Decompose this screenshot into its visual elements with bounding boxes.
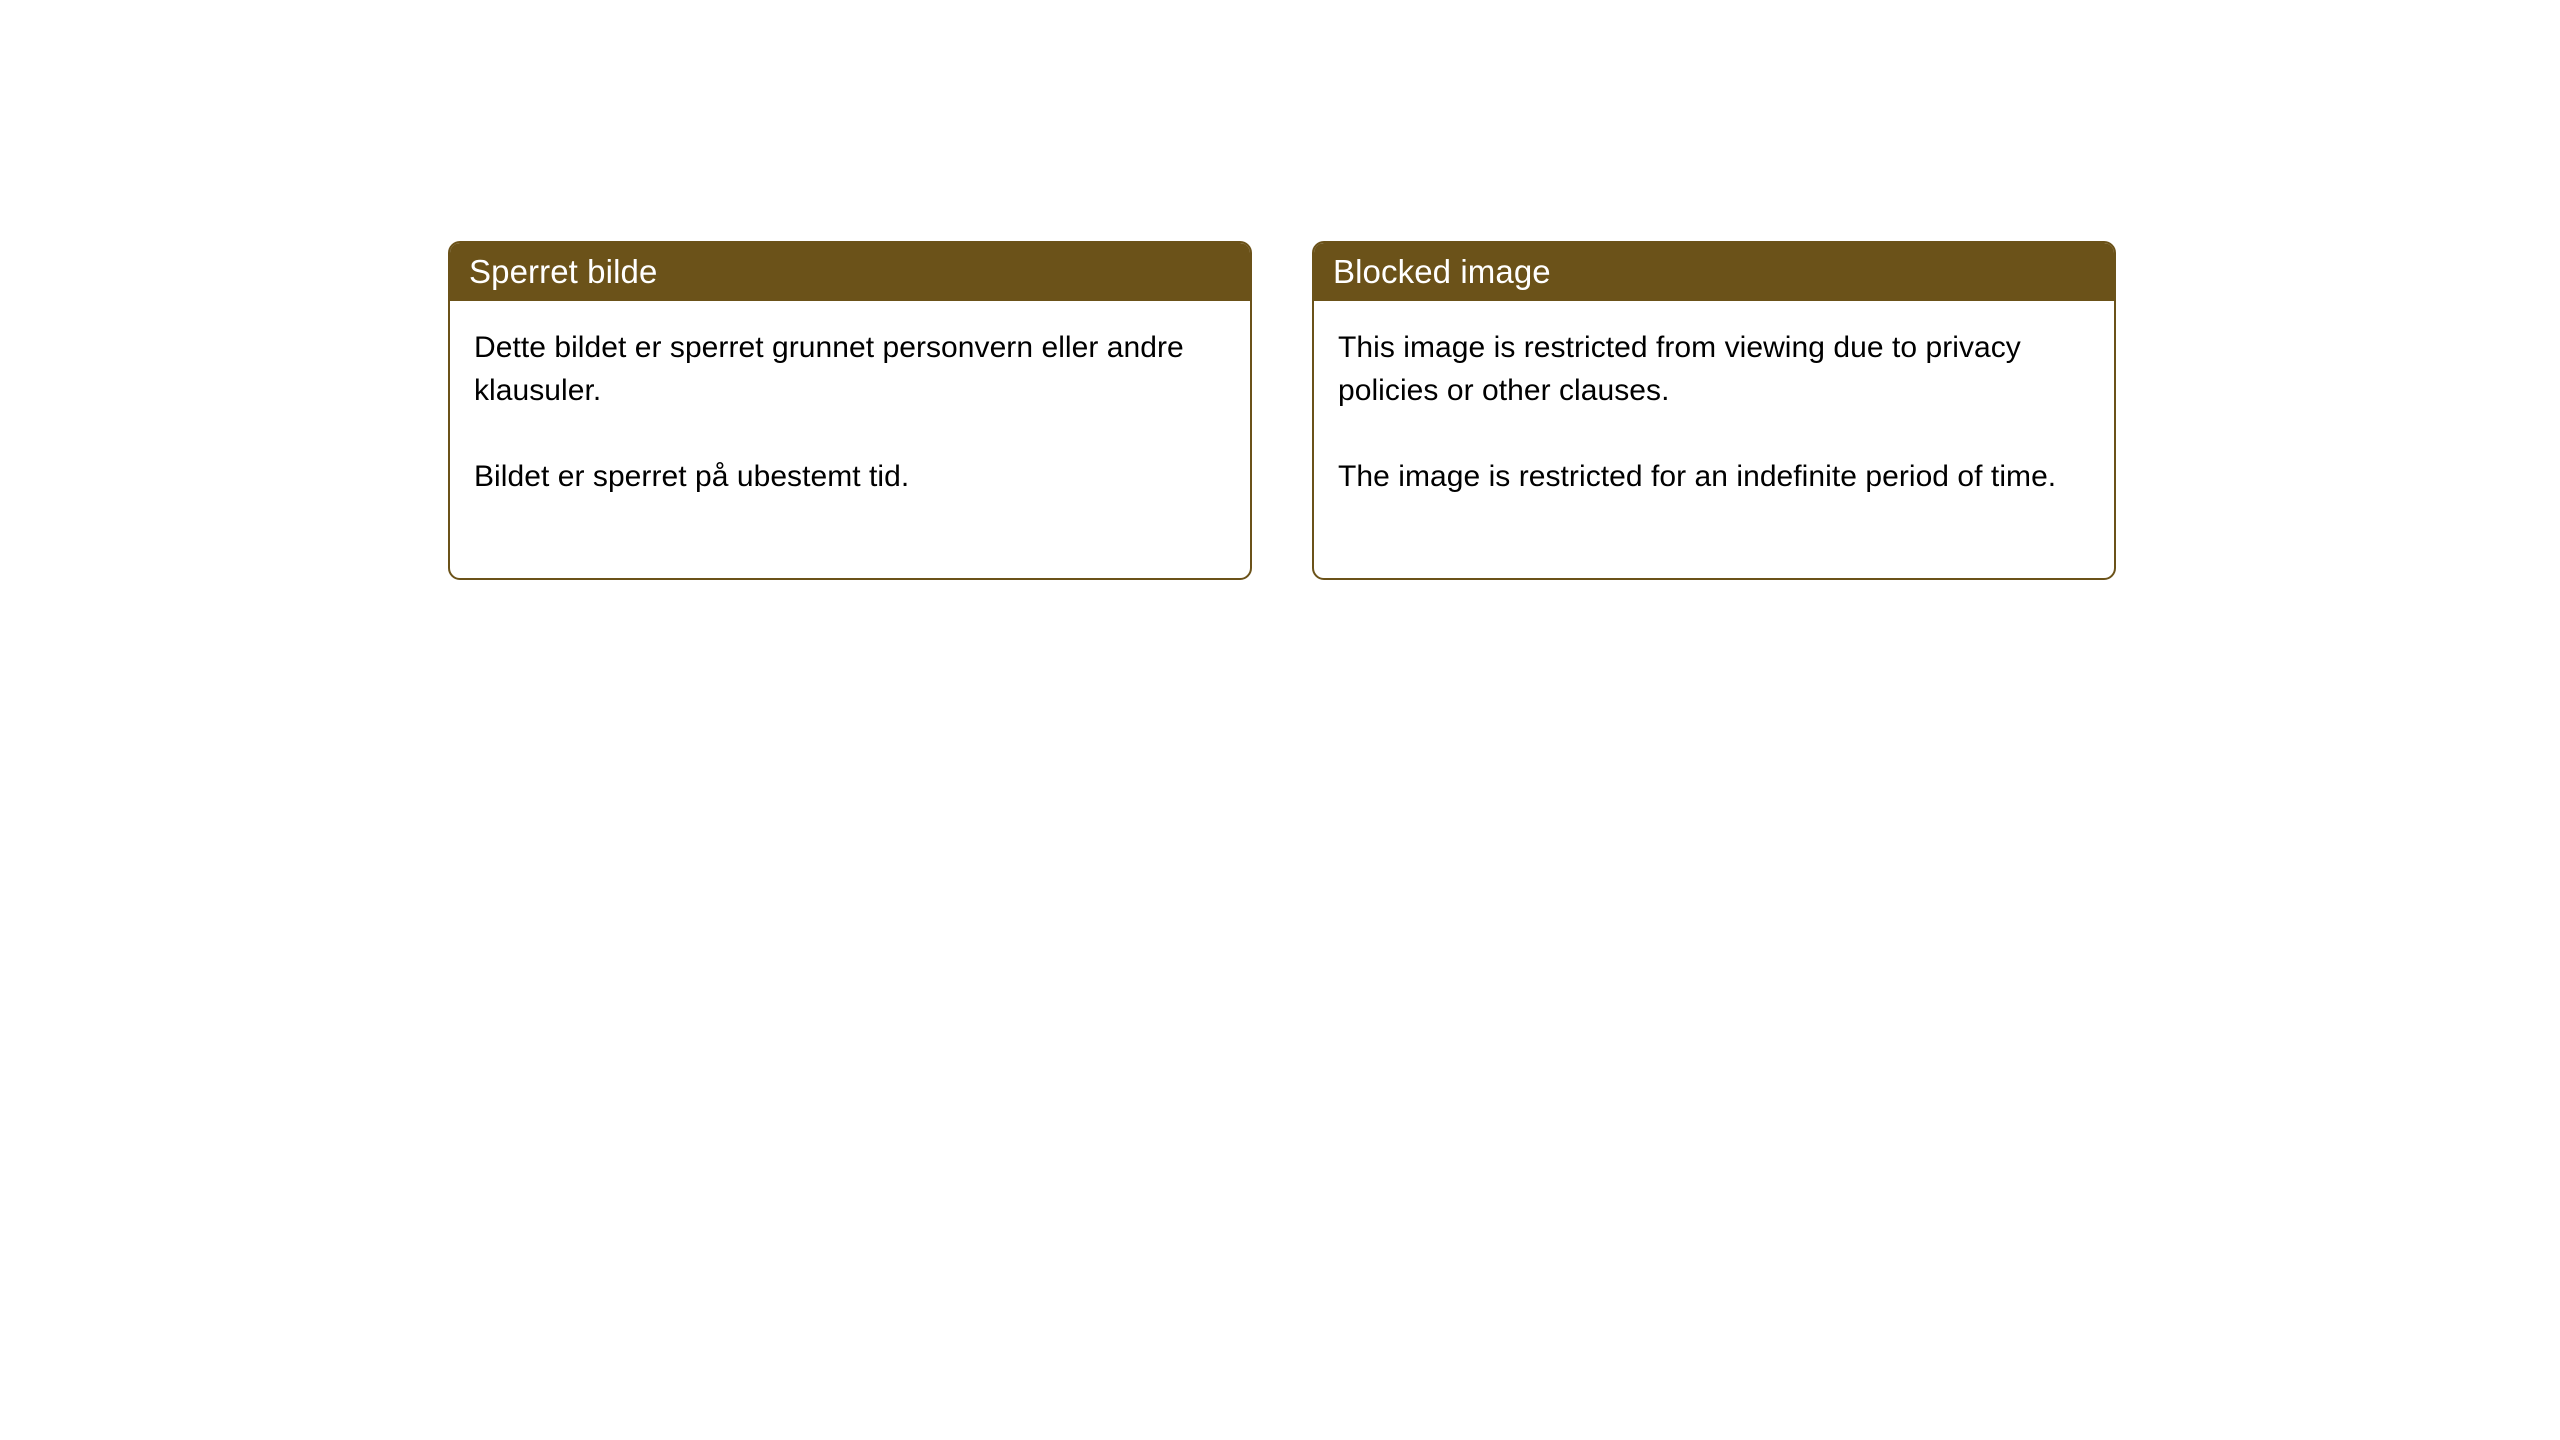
- card-title-no: Sperret bilde: [469, 255, 657, 288]
- card-header-en: Blocked image: [1313, 242, 2115, 301]
- card-header-no: Sperret bilde: [449, 242, 1251, 301]
- blocked-image-card-no: Sperret bilde Dette bildet er sperret gr…: [448, 241, 1252, 580]
- card-paragraph: Bildet er sperret på ubestemt tid.: [474, 455, 1224, 498]
- blocked-image-card-en: Blocked image This image is restricted f…: [1312, 241, 2116, 580]
- card-paragraph: This image is restricted from viewing du…: [1338, 326, 2088, 412]
- card-title-en: Blocked image: [1333, 255, 1551, 288]
- blocked-image-notices: Sperret bilde Dette bildet er sperret gr…: [448, 241, 2116, 580]
- card-body-en: This image is restricted from viewing du…: [1314, 302, 2114, 498]
- card-paragraph: The image is restricted for an indefinit…: [1338, 455, 2088, 498]
- card-body-no: Dette bildet er sperret grunnet personve…: [450, 302, 1250, 498]
- card-paragraph: Dette bildet er sperret grunnet personve…: [474, 326, 1224, 412]
